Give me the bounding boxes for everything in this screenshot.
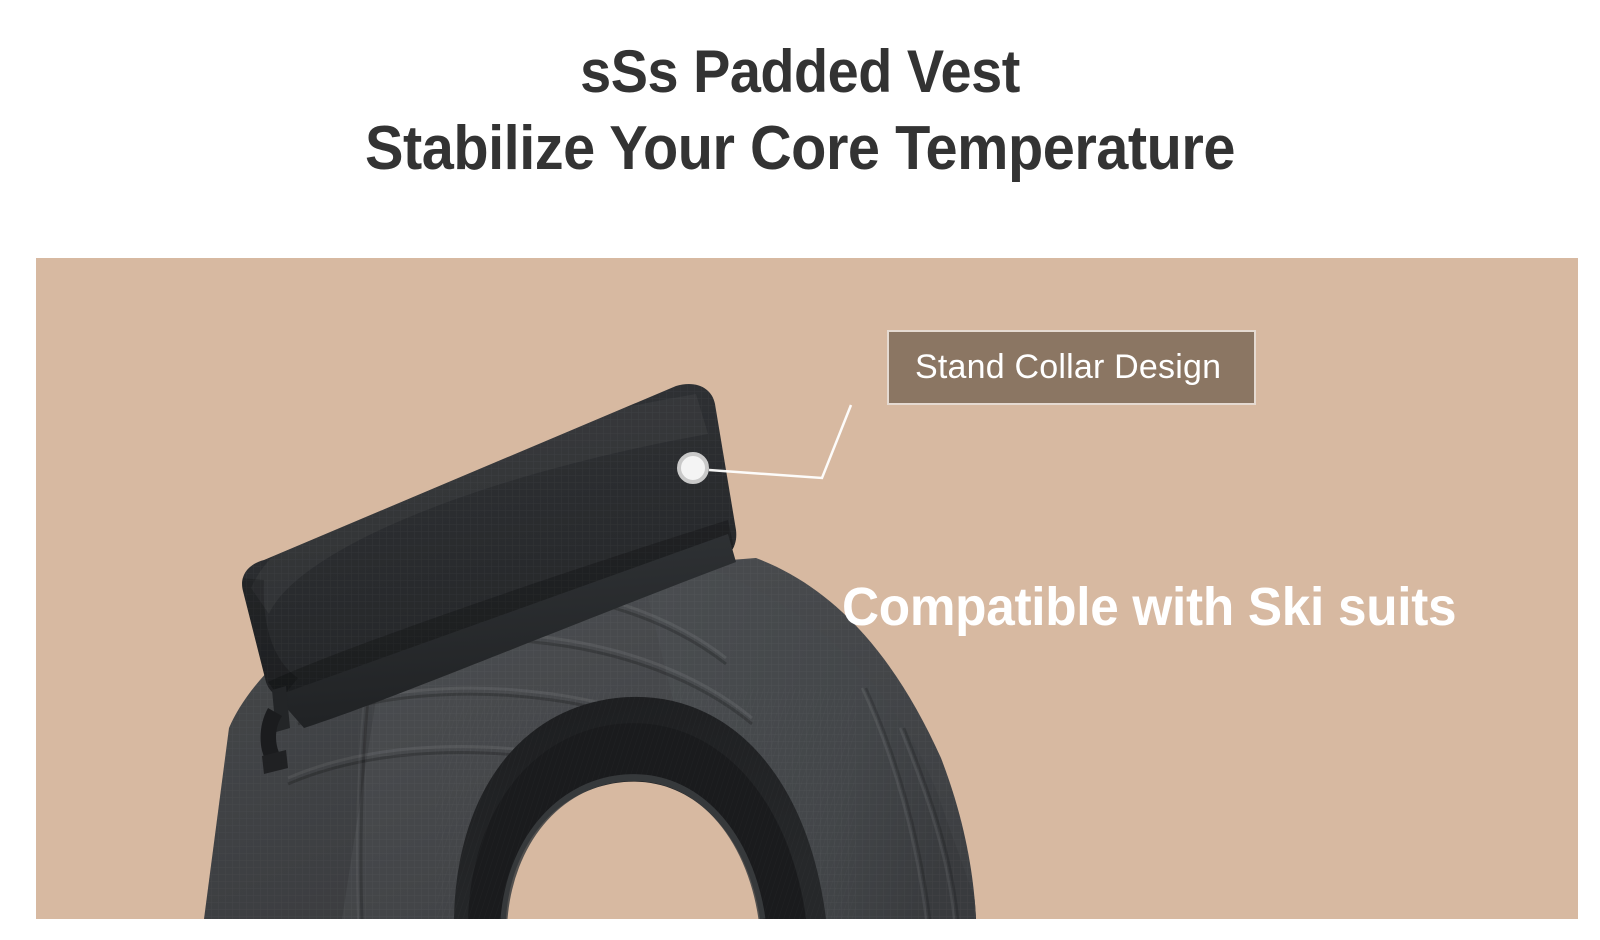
armhole-opening xyxy=(436,688,856,919)
collar-fold xyxy=(276,534,736,728)
zipper-pull-icon xyxy=(261,686,291,774)
callout-dot-icon[interactable] xyxy=(677,452,709,484)
product-photo-panel: Stand Collar Design Compatible with Ski … xyxy=(36,258,1578,919)
callout-stand-collar[interactable]: Stand Collar Design xyxy=(887,330,1256,405)
page-title-line-2: Stabilize Your Core Temperature xyxy=(56,118,1544,180)
tagline-text: Compatible with Ski suits xyxy=(842,576,1456,638)
product-feature-page: sSs Padded Vest Stabilize Your Core Temp… xyxy=(0,0,1600,940)
stand-collar xyxy=(186,348,806,728)
page-title: sSs Padded Vest Stabilize Your Core Temp… xyxy=(0,42,1600,180)
page-title-line-1: sSs Padded Vest xyxy=(56,42,1544,102)
callout-label: Stand Collar Design xyxy=(915,348,1221,387)
